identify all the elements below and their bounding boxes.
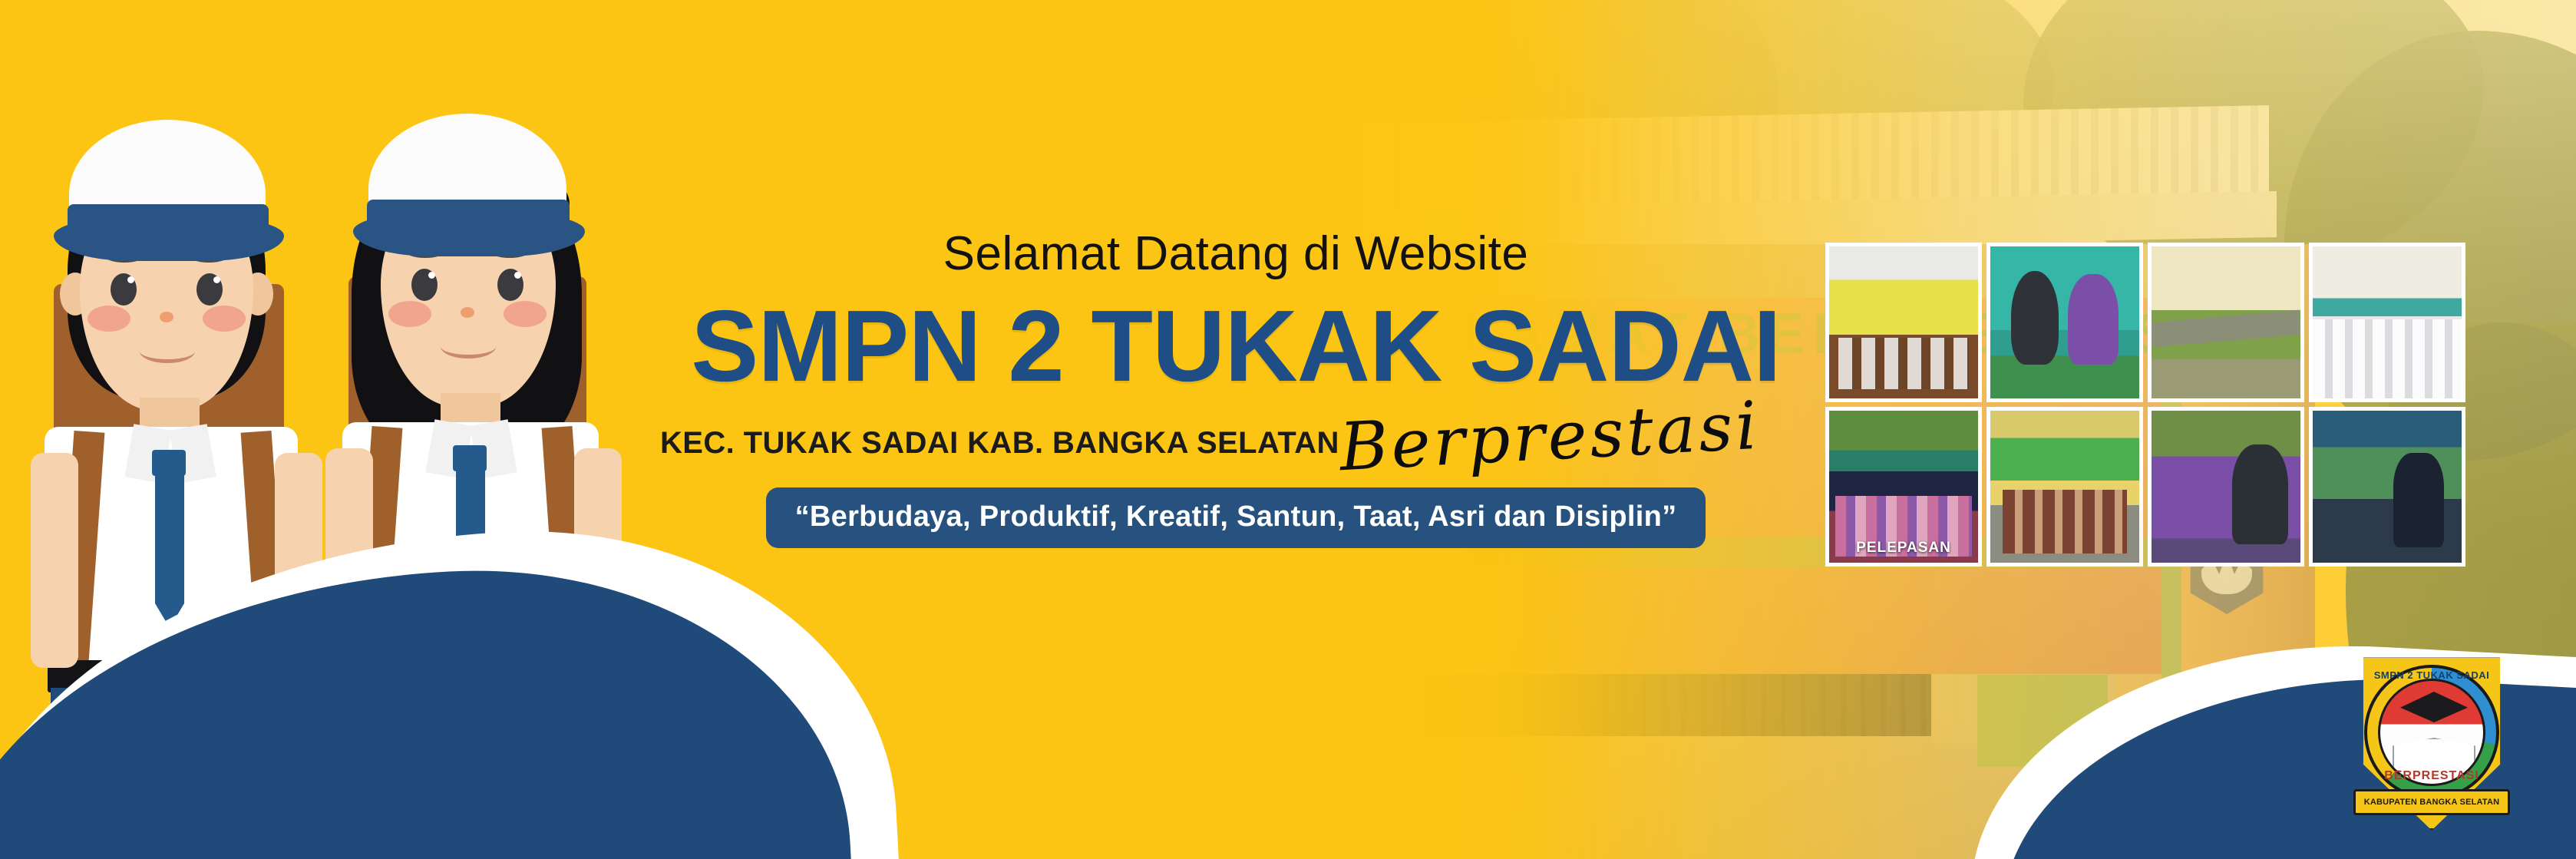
tie-knot (152, 450, 186, 476)
banner-copy-block: Selamat Datang di Website SMPN 2 TUKAK S… (660, 230, 1811, 548)
photo-graduation-ceremony[interactable]: PELEPASAN (1825, 407, 1982, 567)
photo-image (1990, 411, 2139, 563)
nose (461, 307, 474, 318)
school-name-heading: SMPN 2 TUKAK SADAI (660, 298, 1811, 395)
photo-collage: PELEPASAN (1825, 243, 2465, 567)
photo-quran-reading[interactable] (1986, 243, 2143, 402)
cap-brim (54, 218, 284, 261)
cheek-blush (88, 306, 130, 332)
crest-ribbon: KABUPATEN BANGKA SELATAN (2353, 789, 2510, 815)
photo-image (2152, 246, 2300, 398)
school-welcome-banner: SELAMAT BERPRESTASI Australian AID (0, 0, 2576, 859)
eye (497, 269, 523, 301)
mouth (441, 335, 496, 358)
cheek-blush (203, 306, 246, 332)
photo-image (1990, 246, 2139, 398)
photo-assembly-hall[interactable] (2309, 243, 2465, 402)
cheek-blush (504, 301, 547, 327)
crest-ribbon-text: KABUPATEN BANGKA SELATAN (2364, 798, 2500, 807)
photo-speech-event[interactable] (2309, 407, 2465, 567)
photo-student-activity[interactable] (2148, 407, 2304, 567)
crest-middle-text: BERPRESTASI (2350, 769, 2513, 783)
photo-image (2313, 246, 2462, 398)
graduation-cap-icon (2400, 692, 2468, 722)
photo-image (1829, 246, 1978, 398)
photo-scout-group[interactable] (1986, 407, 2143, 567)
school-motto-badge: “Berbudaya, Produktif, Kreatif, Santun, … (766, 487, 1706, 548)
photo-image (2313, 411, 2462, 563)
photo-computer-lab[interactable] (1825, 243, 1982, 402)
eye (111, 273, 137, 306)
school-crest-logo: SMPN 2 TUKAK SADAI BERPRESTASI KABUPATEN… (2350, 654, 2513, 832)
photo-caption: PELEPASAN (1829, 540, 1978, 557)
necktie (155, 474, 184, 628)
cap-brim (353, 213, 585, 256)
subtitle-row: KEC. TUKAK SADAI KAB. BANGKA SELATAN Ber… (660, 412, 1811, 477)
cheek-blush (388, 301, 431, 327)
photo-image (2152, 411, 2300, 563)
region-line: KEC. TUKAK SADAI KAB. BANGKA SELATAN (660, 426, 1339, 461)
eye (197, 273, 223, 306)
photo-school-cleanup[interactable] (2148, 243, 2304, 402)
welcome-text: Selamat Datang di Website (660, 230, 1811, 278)
arm (31, 453, 78, 668)
crest-top-text: SMPN 2 TUKAK SADAI (2350, 669, 2513, 681)
eye (411, 269, 438, 301)
mouth (140, 339, 195, 363)
nose (160, 312, 173, 322)
open-book-icon (2393, 738, 2475, 771)
tie-knot (453, 445, 487, 471)
